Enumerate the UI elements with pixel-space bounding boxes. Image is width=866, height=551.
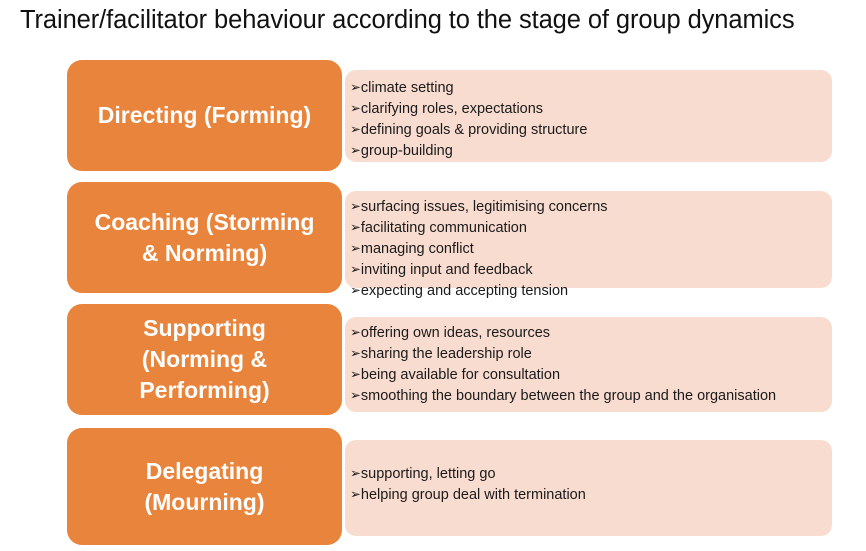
- bullet-arrow-icon: ➢: [350, 218, 361, 239]
- list-item: ➢climate setting: [350, 78, 820, 99]
- behaviour-text: smoothing the boundary between the group…: [361, 388, 776, 404]
- list-item: ➢defining goals & providing structure: [350, 120, 820, 141]
- stage-label: Directing (Forming): [88, 100, 321, 131]
- behaviour-list-supporting: ➢offering own ideas, resources ➢sharing …: [350, 323, 820, 407]
- list-item: ➢inviting input and feedback: [350, 260, 820, 281]
- bullet-arrow-icon: ➢: [350, 197, 361, 218]
- stage-label: Coaching (Storming & Norming): [85, 207, 325, 269]
- list-item: ➢facilitating communication: [350, 218, 820, 239]
- bullet-arrow-icon: ➢: [350, 365, 361, 386]
- list-item: ➢being available for consultation: [350, 365, 820, 386]
- behaviour-text: helping group deal with termination: [361, 487, 586, 503]
- behaviour-text: inviting input and feedback: [361, 262, 533, 278]
- behaviour-list-delegating: ➢supporting, letting go ➢helping group d…: [350, 464, 820, 506]
- list-item: ➢helping group deal with termination: [350, 485, 820, 506]
- list-item: ➢sharing the leadership role: [350, 344, 820, 365]
- bullet-arrow-icon: ➢: [350, 485, 361, 506]
- behaviour-text: clarifying roles, expectations: [361, 101, 543, 117]
- behaviour-text: being available for consultation: [361, 367, 560, 383]
- stage-label: Supporting (Norming & Performing): [129, 313, 279, 406]
- behaviour-text: managing conflict: [361, 241, 474, 257]
- bullet-arrow-icon: ➢: [350, 99, 361, 120]
- bullet-arrow-icon: ➢: [350, 141, 361, 162]
- bullet-arrow-icon: ➢: [350, 260, 361, 281]
- behaviour-list-coaching: ➢surfacing issues, legitimising concerns…: [350, 197, 820, 302]
- stages-diagram: ➢climate setting ➢clarifying roles, expe…: [0, 0, 866, 551]
- list-item: ➢smoothing the boundary between the grou…: [350, 386, 820, 407]
- behaviour-text: sharing the leadership role: [361, 346, 532, 362]
- list-item: ➢offering own ideas, resources: [350, 323, 820, 344]
- bullet-arrow-icon: ➢: [350, 281, 361, 302]
- bullet-arrow-icon: ➢: [350, 464, 361, 485]
- bullet-arrow-icon: ➢: [350, 323, 361, 344]
- behaviour-text: group-building: [361, 143, 453, 159]
- behaviour-text: supporting, letting go: [361, 466, 496, 482]
- behaviour-text: offering own ideas, resources: [361, 325, 550, 341]
- behaviour-text: expecting and accepting tension: [361, 283, 568, 299]
- behaviour-text: facilitating communication: [361, 220, 527, 236]
- stage-box-supporting: Supporting (Norming & Performing): [67, 304, 342, 415]
- bullet-arrow-icon: ➢: [350, 386, 361, 407]
- stage-box-directing: Directing (Forming): [67, 60, 342, 171]
- list-item: ➢group-building: [350, 141, 820, 162]
- bullet-arrow-icon: ➢: [350, 344, 361, 365]
- bullet-arrow-icon: ➢: [350, 120, 361, 141]
- behaviour-text: climate setting: [361, 80, 454, 96]
- behaviour-list-directing: ➢climate setting ➢clarifying roles, expe…: [350, 78, 820, 162]
- stage-box-coaching: Coaching (Storming & Norming): [67, 182, 342, 293]
- bullet-arrow-icon: ➢: [350, 239, 361, 260]
- list-item: ➢surfacing issues, legitimising concerns: [350, 197, 820, 218]
- stage-box-delegating: Delegating (Mourning): [67, 428, 342, 545]
- stage-label: Delegating (Mourning): [134, 456, 274, 518]
- list-item: ➢expecting and accepting tension: [350, 281, 820, 302]
- list-item: ➢supporting, letting go: [350, 464, 820, 485]
- behaviour-text: defining goals & providing structure: [361, 122, 588, 138]
- list-item: ➢clarifying roles, expectations: [350, 99, 820, 120]
- bullet-arrow-icon: ➢: [350, 78, 361, 99]
- behaviour-text: surfacing issues, legitimising concerns: [361, 199, 608, 215]
- list-item: ➢managing conflict: [350, 239, 820, 260]
